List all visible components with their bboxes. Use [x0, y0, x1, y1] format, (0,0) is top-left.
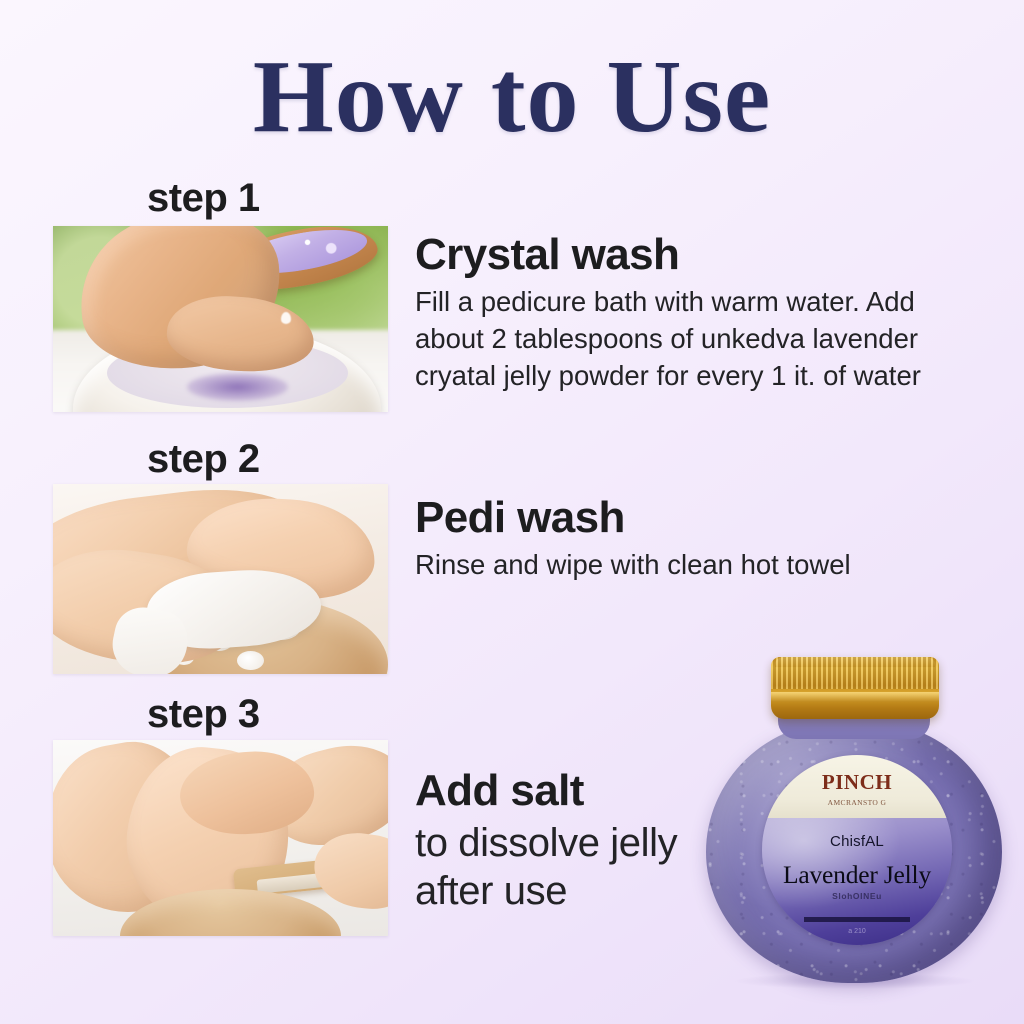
- step-2-body: Rinse and wipe with clean hot towel: [415, 546, 945, 583]
- product-name: Lavender Jelly: [762, 860, 952, 890]
- lid-ribbing: [771, 657, 939, 689]
- water-droplet: [281, 312, 291, 324]
- step-1-photo: [53, 226, 388, 412]
- step-3-text-block: Add salt to dissolve jelly after use: [415, 768, 745, 915]
- product-jar: PINCH AMCRANSTO G ChisfAL Lavender Jelly…: [700, 643, 1010, 988]
- step-2-photo-scene: [53, 484, 388, 674]
- product-brand: PINCH: [762, 770, 952, 795]
- product-sub-name: ChisfAL: [762, 833, 952, 850]
- product-label: PINCH AMCRANSTO G ChisfAL Lavender Jelly…: [762, 755, 952, 945]
- how-to-use-infographic: How to Use step 1 Crystal wash Fill a pe…: [0, 0, 1024, 1024]
- lid-band: [771, 692, 939, 703]
- step-3-photo: [53, 740, 388, 936]
- gold-jar-lid: [771, 657, 939, 719]
- step-3-heading: Add salt: [415, 768, 745, 815]
- step-1-heading: Crystal wash: [415, 232, 985, 279]
- product-micro-text: SlohOINEu: [762, 891, 952, 901]
- product-brand-subtitle: AMCRANSTO G: [762, 798, 952, 807]
- label-dark-bar: [804, 917, 910, 922]
- product-volume-text: a 210: [762, 928, 952, 935]
- step-label-3: step 3: [147, 692, 260, 737]
- step-2-heading: Pedi wash: [415, 495, 945, 542]
- step-label-2: step 2: [147, 437, 260, 482]
- step-1-body: Fill a pedicure bath with warm water. Ad…: [415, 283, 985, 395]
- step-label-1: step 1: [147, 176, 260, 221]
- step-3-photo-scene: [53, 740, 388, 936]
- step-3-body: to dissolve jelly after use: [415, 819, 745, 915]
- step-2-text-block: Pedi wash Rinse and wipe with clean hot …: [415, 495, 945, 583]
- step-1-photo-scene: [53, 226, 388, 412]
- dissolved-lavender-patch: [187, 373, 288, 401]
- step-1-text-block: Crystal wash Fill a pedicure bath with w…: [415, 232, 985, 395]
- page-title: How to Use: [0, 42, 1024, 151]
- step-2-photo: [53, 484, 388, 674]
